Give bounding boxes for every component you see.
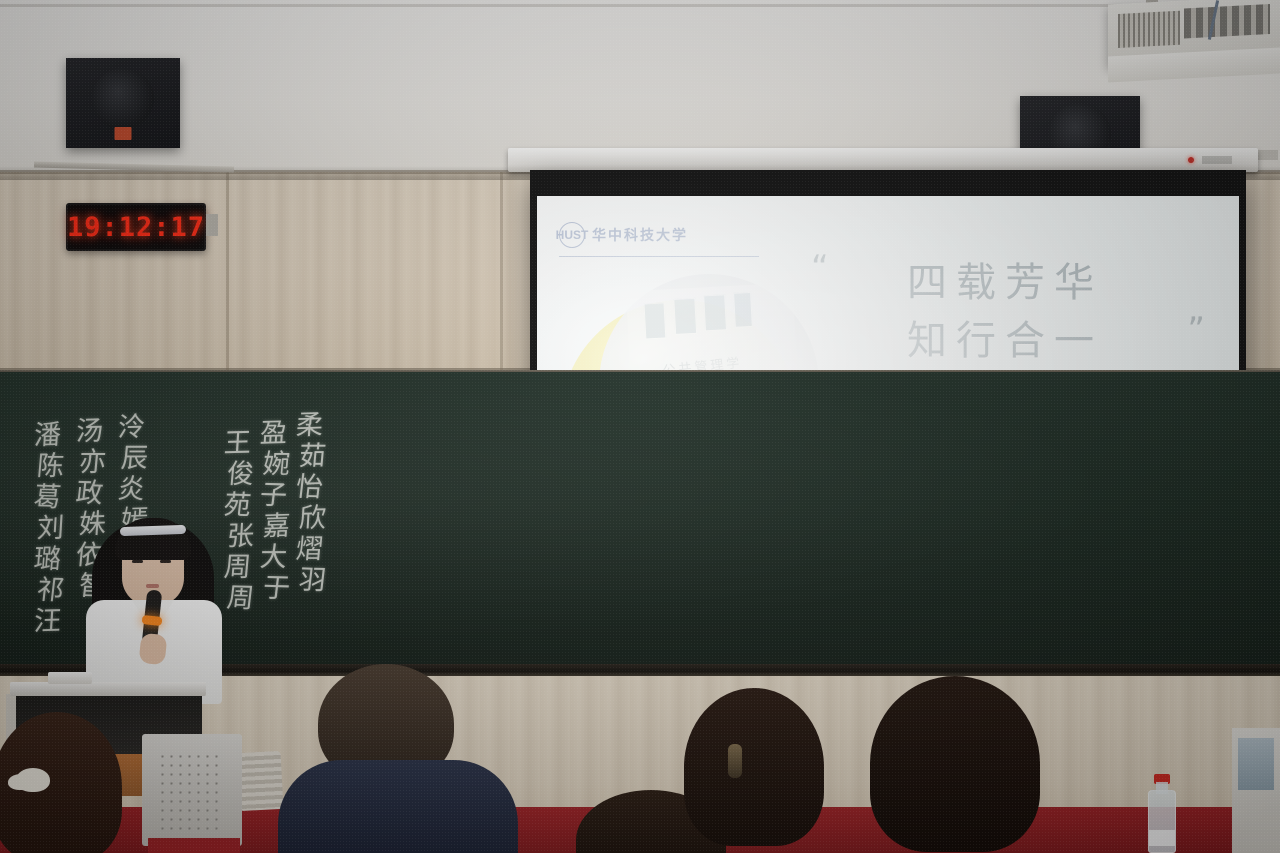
wood-panel-seam bbox=[226, 172, 229, 372]
cabinet-panel bbox=[1238, 738, 1274, 790]
chalk-char: 汪 bbox=[33, 606, 65, 638]
chalk-char: 璐 bbox=[33, 544, 66, 575]
hust-emblem-icon: HUST bbox=[559, 222, 585, 248]
wall-speaker-left bbox=[66, 58, 180, 148]
chalk-char: 俊 bbox=[226, 459, 256, 490]
chalk-char: 张 bbox=[226, 521, 255, 553]
university-logo: HUST 华中科技大学 bbox=[559, 222, 688, 248]
lectern-laptop bbox=[48, 672, 92, 684]
bottle-label bbox=[1149, 830, 1175, 846]
student-presenter bbox=[84, 508, 224, 698]
chalk-char: 葛 bbox=[32, 482, 65, 514]
chalk-char: 于 bbox=[261, 573, 292, 605]
microphone-led-icon bbox=[142, 615, 163, 626]
projector-ports bbox=[1184, 4, 1270, 39]
university-name: 华中科技大学 bbox=[592, 225, 688, 245]
chalk-char: 汤 bbox=[75, 416, 107, 448]
chalk-char: 辰 bbox=[120, 443, 150, 474]
screen-control-panel[interactable] bbox=[1202, 156, 1232, 164]
quote-open-mark: “ bbox=[811, 248, 829, 288]
chalk-char: 王 bbox=[223, 428, 255, 460]
window bbox=[643, 303, 667, 340]
ceiling-seam bbox=[0, 4, 1280, 7]
logo-divider bbox=[559, 256, 759, 257]
audience-member-center bbox=[650, 688, 870, 853]
butterfly-hair-clip-icon bbox=[16, 768, 50, 792]
chalk-column-4: 王俊苑张周周 bbox=[224, 428, 254, 614]
slide-title-block: “ 四载芳华 知行合一 ” bbox=[805, 254, 1205, 370]
chalk-char: 柔 bbox=[295, 410, 327, 442]
speaker-cone-icon bbox=[92, 68, 154, 130]
chalk-char: 盈 bbox=[259, 418, 291, 450]
chalk-char: 潘 bbox=[33, 420, 65, 452]
lectern-top bbox=[10, 682, 206, 696]
chalk-char: 怡 bbox=[294, 472, 327, 504]
power-indicator-icon bbox=[1188, 157, 1194, 163]
chair bbox=[237, 751, 284, 811]
chalk-char: 祁 bbox=[35, 575, 66, 607]
audience-member-center-left bbox=[278, 664, 518, 853]
chalk-char: 大 bbox=[259, 542, 292, 573]
classroom-scene: 19:12:17 HUST 华中科技大学 公共管理学院 “ 四载 bbox=[0, 0, 1280, 853]
shoulders bbox=[278, 760, 518, 853]
audience-member-front-left bbox=[0, 712, 160, 853]
quote-close-mark: ” bbox=[1187, 310, 1205, 350]
slide-title-line-2: 知行合一 bbox=[805, 312, 1205, 370]
chalk-char: 嘉 bbox=[262, 511, 291, 543]
chalk-char: 茹 bbox=[298, 441, 328, 472]
chalk-char: 泠 bbox=[117, 412, 149, 444]
head bbox=[870, 676, 1040, 852]
chalk-char: 欣 bbox=[298, 503, 327, 535]
chalk-char: 周 bbox=[223, 552, 256, 583]
window bbox=[703, 295, 727, 332]
chalk-column-1: 潘陈葛刘璐祁汪 bbox=[34, 420, 64, 637]
window bbox=[733, 292, 753, 329]
chalk-char: 羽 bbox=[297, 565, 328, 597]
floor-speaker-base bbox=[148, 838, 240, 853]
hair-pin-icon bbox=[728, 744, 742, 778]
speaker-grill-icon bbox=[158, 752, 224, 834]
slide-title-line-1: 四载芳华 bbox=[805, 254, 1205, 312]
wall-cabinet-right bbox=[1232, 728, 1280, 853]
presenter-eye-left bbox=[132, 560, 143, 563]
clock-time-display: 19:12:17 bbox=[67, 212, 205, 243]
chalk-char: 子 bbox=[258, 480, 291, 512]
chalk-char: 亦 bbox=[78, 447, 108, 478]
chalk-column-5: 盈婉子嘉大于 bbox=[260, 418, 290, 604]
presenter-mouth bbox=[146, 584, 159, 588]
chalk-char: 刘 bbox=[36, 513, 65, 545]
projector-vent-icon bbox=[1118, 11, 1180, 48]
chalk-char: 周 bbox=[225, 583, 256, 615]
presenter-eye-right bbox=[160, 560, 171, 563]
chalk-column-6: 柔茹怡欣熠羽 bbox=[296, 410, 326, 596]
chalk-char: 炎 bbox=[116, 474, 149, 506]
head bbox=[684, 688, 824, 846]
chalk-char: 苑 bbox=[222, 490, 255, 522]
wood-panel-seam bbox=[500, 172, 503, 372]
clock-mount bbox=[206, 214, 218, 236]
water-bottle bbox=[1148, 774, 1176, 853]
chalk-char: 政 bbox=[74, 478, 107, 510]
chalk-char: 婉 bbox=[262, 449, 292, 480]
chalk-char: 陈 bbox=[36, 451, 66, 482]
chalk-char: 熠 bbox=[295, 534, 328, 565]
speaker-badge bbox=[115, 127, 132, 140]
wall-digital-clock: 19:12:17 bbox=[66, 203, 206, 251]
audience-member-right bbox=[840, 676, 1090, 853]
screen-housing bbox=[508, 148, 1258, 172]
window bbox=[673, 298, 697, 335]
